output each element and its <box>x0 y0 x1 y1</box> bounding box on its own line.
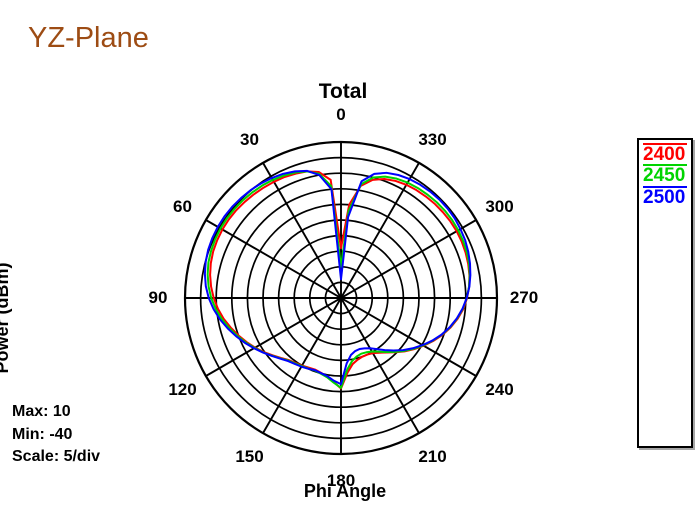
scale-info-block: Max: 10 Min: -40 Scale: 5/div <box>12 401 100 469</box>
angle-label-90: 90 <box>149 288 168 308</box>
info-max: Max: 10 <box>12 401 100 424</box>
angle-label-330: 330 <box>418 130 446 150</box>
y-axis-label: Power (dBm) <box>0 218 13 418</box>
slide-title: YZ-Plane <box>28 22 149 55</box>
polar-center-dot <box>338 295 345 302</box>
info-min: Min: -40 <box>12 424 100 447</box>
angle-label-210: 210 <box>418 447 446 467</box>
angle-label-30: 30 <box>240 130 259 150</box>
angle-label-60: 60 <box>173 197 192 217</box>
angle-label-270: 270 <box>510 288 538 308</box>
info-scale: Scale: 5/div <box>12 446 100 469</box>
legend-label-2450: 2450 <box>642 166 688 185</box>
legend-item-2450: 2450 <box>642 164 688 185</box>
legend-label-2500: 2500 <box>642 188 688 207</box>
legend-item-2400: 2400 <box>642 143 688 164</box>
data-series-group <box>205 171 470 389</box>
plot-title: Total <box>0 80 686 104</box>
angle-label-180: 180 <box>327 471 355 491</box>
slide-canvas: YZ-Plane Total Power (dBm) Phi Angle 030… <box>0 0 700 530</box>
legend-label-2400: 2400 <box>642 145 688 164</box>
polar-chart-svg <box>155 112 527 484</box>
legend-item-2500: 2500 <box>642 186 688 207</box>
angle-label-0: 0 <box>336 105 345 125</box>
legend: 240024502500 <box>637 138 693 448</box>
angle-label-150: 150 <box>235 447 263 467</box>
angle-label-120: 120 <box>168 380 196 400</box>
polar-plot: 0306090120150180210240270300330 <box>155 112 527 484</box>
angle-label-300: 300 <box>485 197 513 217</box>
angle-label-240: 240 <box>485 380 513 400</box>
legend-entries: 240024502500 <box>639 140 691 207</box>
